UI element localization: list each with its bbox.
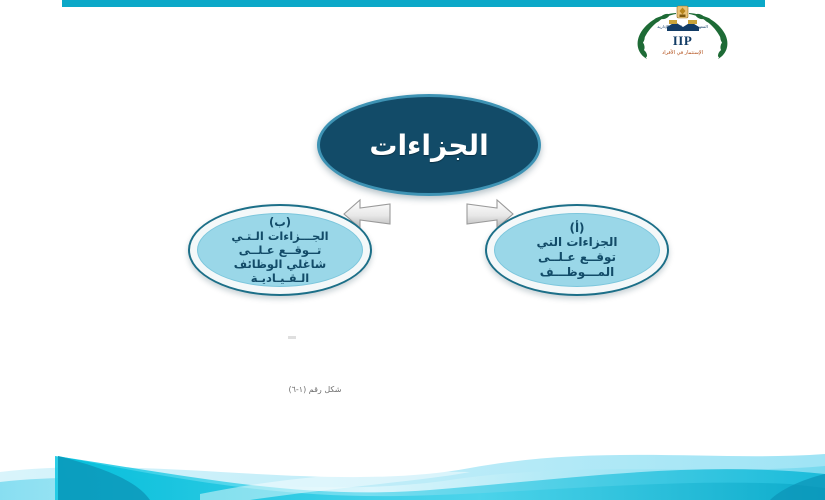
- branch-node-b-leadership-penalties: (ب) الجـــزاءات الـتـي تــوقــع عـلــى ش…: [188, 204, 372, 296]
- scan-artifact-mark: [288, 336, 296, 339]
- penalties-hierarchy-diagram: الجزاءات: [0, 0, 825, 440]
- branch-node-a-employee-penalties: (أ) الجزاءات التي توقــع عـلــى المـــوظ…: [485, 204, 669, 296]
- figure-caption: شكل رقم (١-٦): [240, 385, 390, 394]
- branch-node-a-label: (أ) الجزاءات التي توقــع عـلــى المـــوظ…: [527, 221, 628, 280]
- root-node-penalties: الجزاءات: [317, 94, 541, 196]
- branch-node-b-inner: (ب) الجـــزاءات الـتـي تــوقــع عـلــى ش…: [197, 213, 363, 287]
- branch-node-a-inner: (أ) الجزاءات التي توقــع عـلــى المـــوظ…: [494, 213, 660, 287]
- branch-node-b-label: (ب) الجـــزاءات الـتـي تــوقــع عـلــى ش…: [221, 215, 338, 285]
- root-node-label: الجزاءات: [369, 129, 488, 162]
- bottom-wave-decoration: [0, 410, 825, 500]
